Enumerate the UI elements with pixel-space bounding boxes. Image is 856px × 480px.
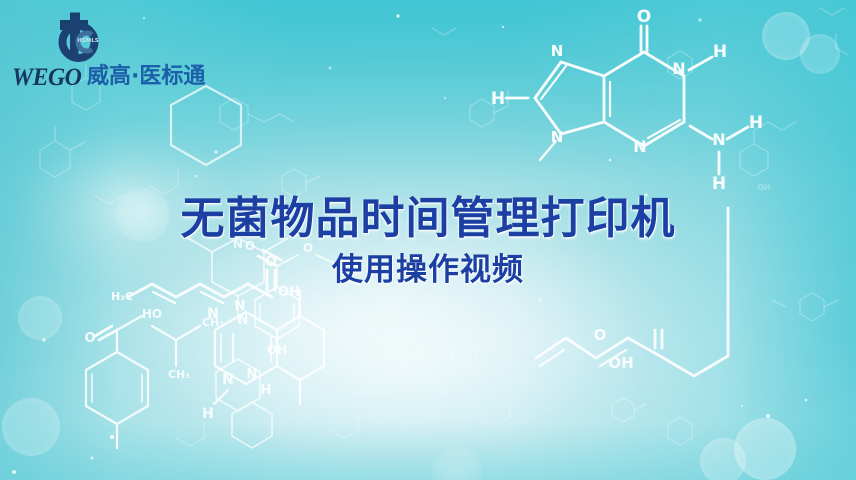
title-group: 无菌物品时间管理打印机 使用操作视频 bbox=[0, 196, 856, 286]
brand-wordmark: WEGO 威高·医标通 bbox=[12, 64, 202, 90]
page-title: 无菌物品时间管理打印机 bbox=[0, 196, 856, 242]
video-title-card: .ln { fill:none; stroke:#ffffff; stroke-… bbox=[0, 0, 856, 480]
page-subtitle: 使用操作视频 bbox=[0, 254, 856, 287]
wordmark-latin: WEGO bbox=[12, 65, 81, 90]
brand-logo[interactable]: HSMLS WEGO 威高·医标通 bbox=[12, 12, 202, 90]
logo-inner-text: HSMLS bbox=[77, 38, 99, 44]
wordmark-chinese: 威高·医标通 bbox=[87, 66, 205, 88]
wego-medmark-logo-icon: HSMLS bbox=[54, 12, 114, 62]
